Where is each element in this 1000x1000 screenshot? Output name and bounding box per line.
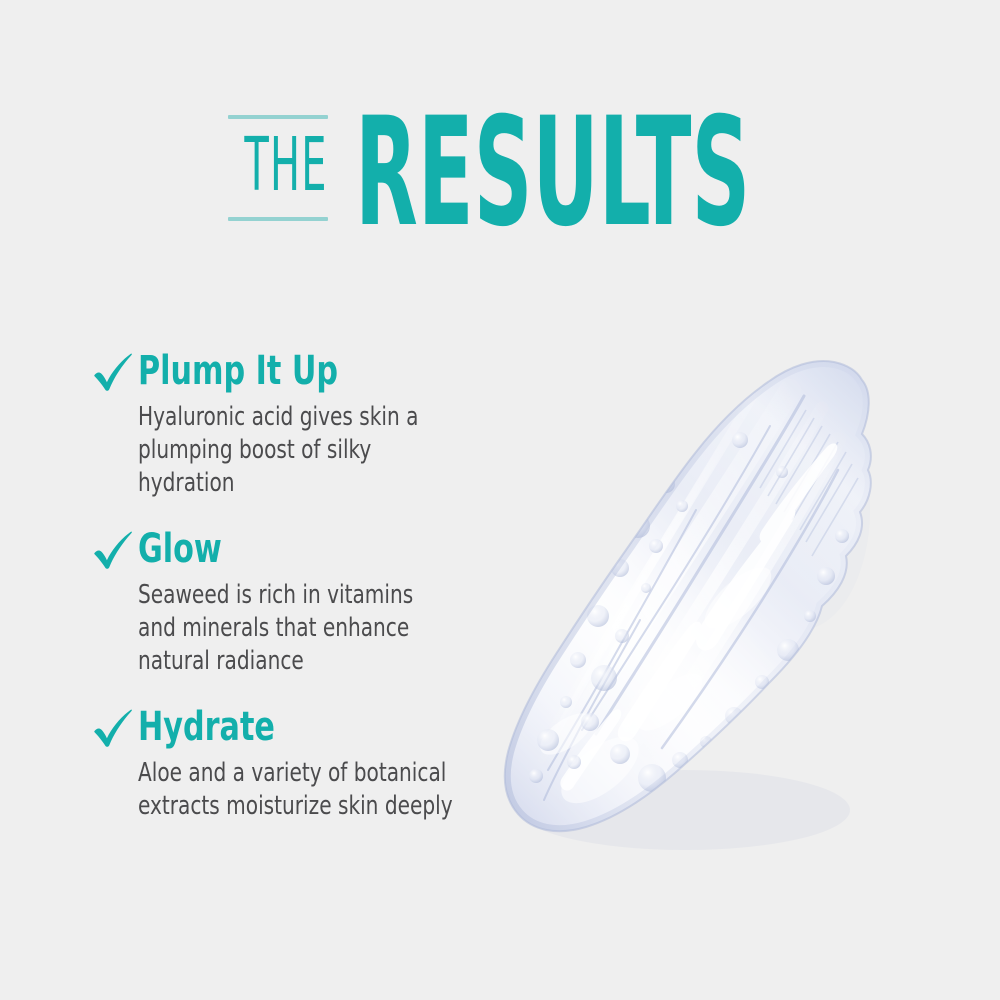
benefit-item-glow: Glow Seaweed is rich in vitamins and min… [90,526,510,678]
benefit-item-hydrate: Hydrate Aloe and a variety of botanical … [90,704,510,823]
benefit-title: Hydrate [138,704,450,750]
title-the-group: THE [222,100,334,226]
gel-swatch-image [470,330,920,860]
benefit-text-group: Glow Seaweed is rich in vitamins and min… [138,526,510,678]
results-graphic: THE RESULTS Plump It Up Hyaluronic acid … [0,0,1000,1000]
checkmark-icon [90,706,136,752]
benefit-title: Plump It Up [138,348,450,394]
checkmark-icon [90,528,136,574]
benefit-item-plump-it-up: Plump It Up Hyaluronic acid gives skin a… [90,348,510,500]
title-small-word: THE [244,122,311,208]
checkmark-icon [90,350,136,396]
benefits-list: Plump It Up Hyaluronic acid gives skin a… [90,348,510,849]
benefit-description: Aloe and a variety of botanical extracts… [138,757,458,823]
benefit-title: Glow [138,526,450,572]
title-rule-bottom [228,217,328,221]
benefit-description: Seaweed is rich in vitamins and minerals… [138,579,458,678]
benefit-text-group: Hydrate Aloe and a variety of botanical … [138,704,510,823]
title-rule-top [228,115,328,119]
benefit-description: Hyaluronic acid gives skin a plumping bo… [138,401,458,500]
page-title: THE RESULTS [0,100,1000,230]
title-main-word: RESULTS [355,98,750,248]
benefit-text-group: Plump It Up Hyaluronic acid gives skin a… [138,348,510,500]
